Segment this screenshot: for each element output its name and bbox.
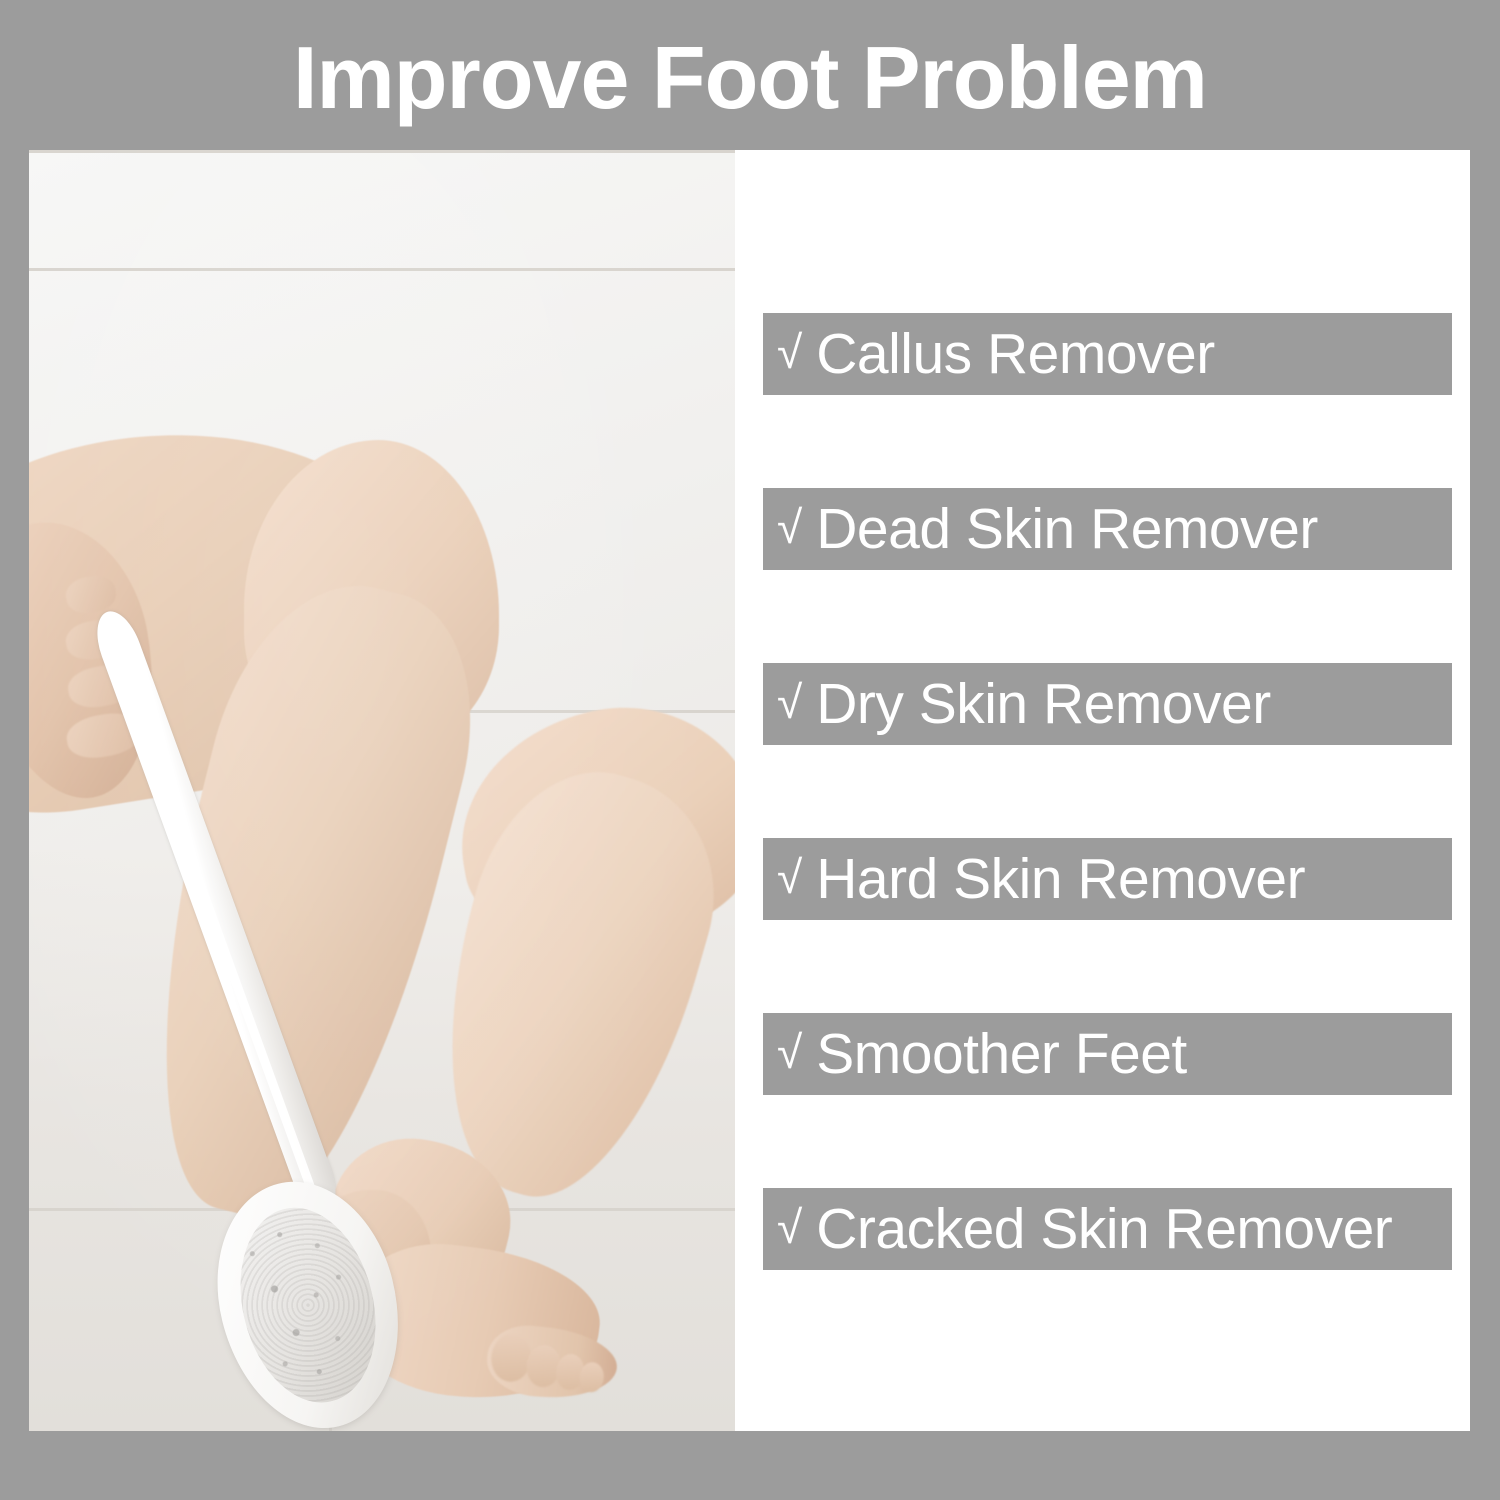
content-panel: √ Callus Remover √ Dead Skin Remover √ D…	[29, 150, 1470, 1431]
product-infographic: Improve Foot Problem	[0, 0, 1500, 1500]
feature-label: Hard Skin Remover	[816, 851, 1305, 908]
feature-item-hard-skin-remover: √ Hard Skin Remover	[763, 838, 1452, 920]
page-title: Improve Foot Problem	[0, 18, 1500, 138]
tile-floor-grout	[29, 268, 735, 271]
check-icon: √	[777, 1029, 802, 1075]
feature-item-callus-remover: √ Callus Remover	[763, 313, 1452, 395]
feature-label: Dry Skin Remover	[816, 676, 1270, 733]
tile-floor-grout	[29, 150, 735, 153]
feature-item-dead-skin-remover: √ Dead Skin Remover	[763, 488, 1452, 570]
check-icon: √	[777, 329, 802, 375]
product-usage-photo	[29, 150, 735, 1431]
feature-label: Dead Skin Remover	[816, 501, 1318, 558]
feature-label: Smoother Feet	[816, 1026, 1187, 1083]
feature-label: Cracked Skin Remover	[816, 1201, 1392, 1258]
feature-item-cracked-skin-remover: √ Cracked Skin Remover	[763, 1188, 1452, 1270]
feature-item-dry-skin-remover: √ Dry Skin Remover	[763, 663, 1452, 745]
feature-label: Callus Remover	[816, 326, 1214, 383]
check-icon: √	[777, 854, 802, 900]
feature-item-smoother-feet: √ Smoother Feet	[763, 1013, 1452, 1095]
feature-list: √ Callus Remover √ Dead Skin Remover √ D…	[735, 150, 1470, 1431]
check-icon: √	[777, 1204, 802, 1250]
check-icon: √	[777, 679, 802, 725]
check-icon: √	[777, 504, 802, 550]
